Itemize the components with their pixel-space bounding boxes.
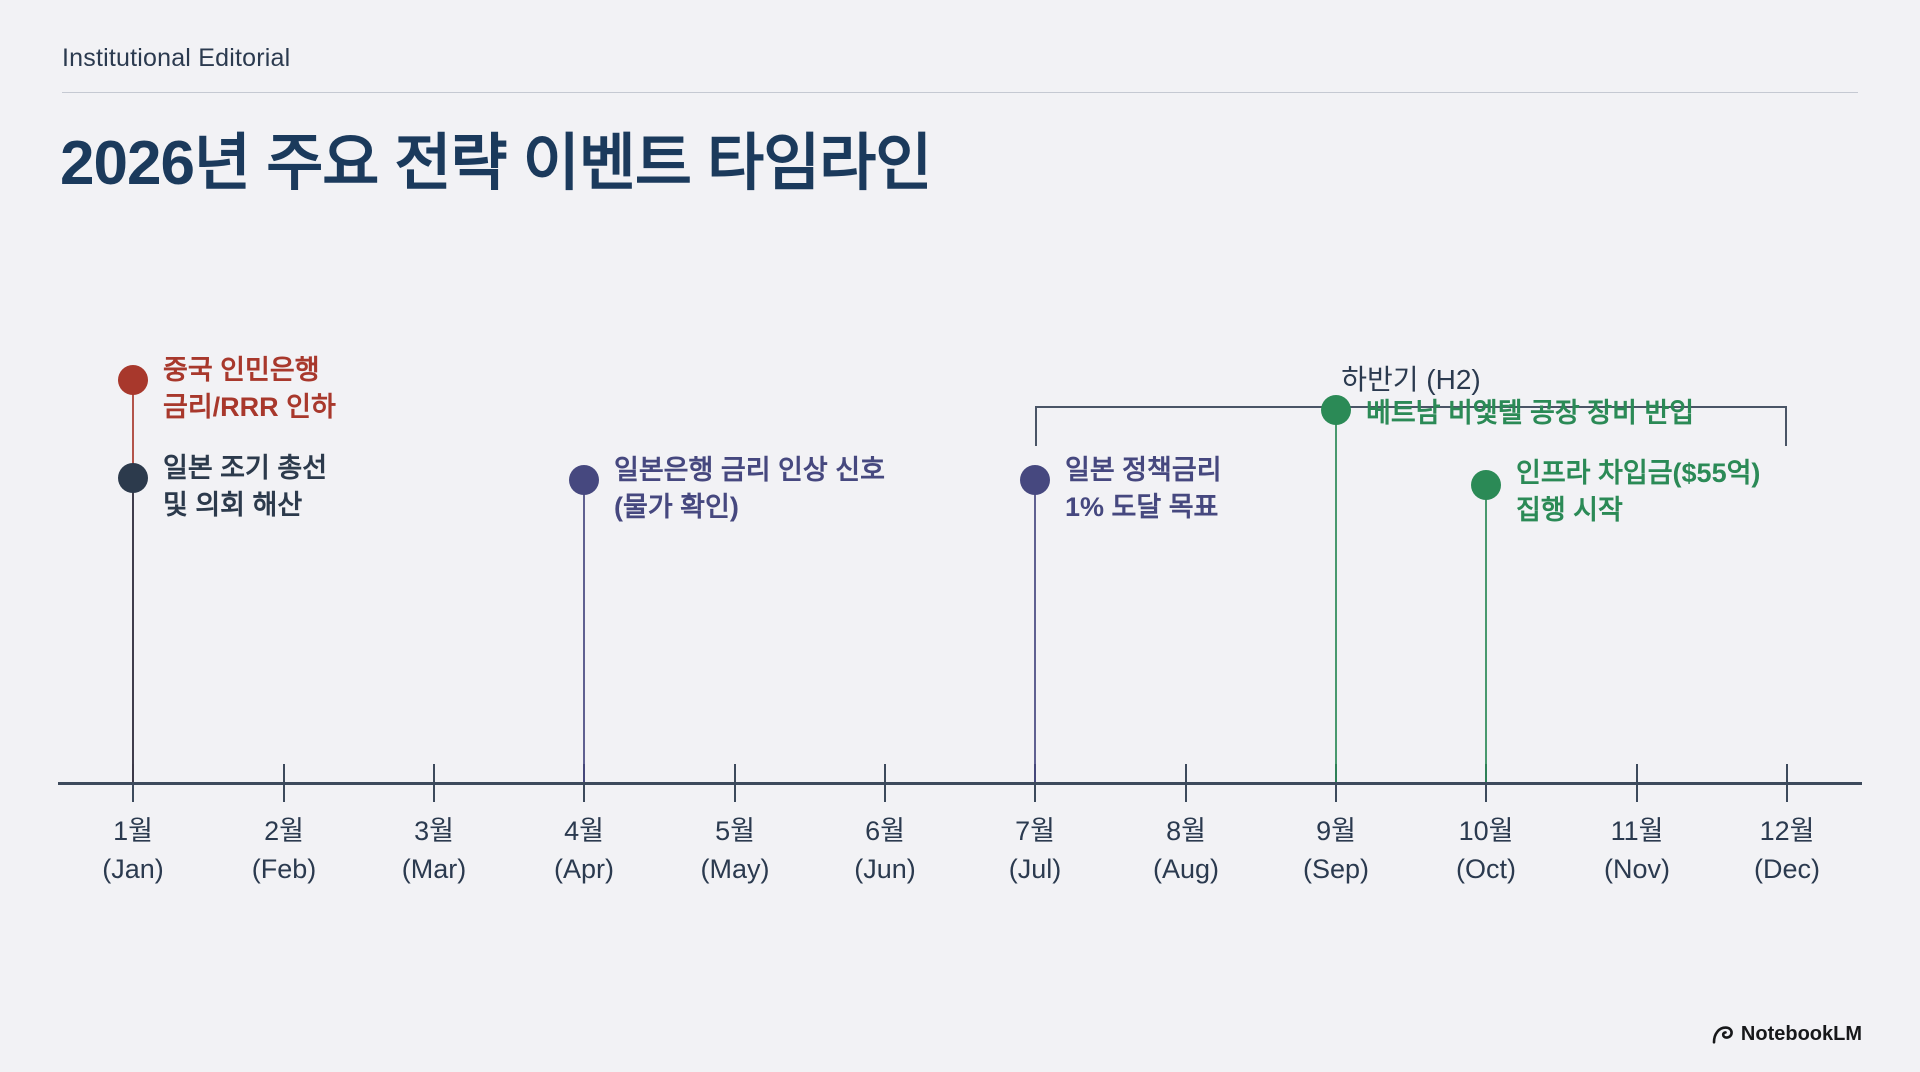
page-title: 2026년 주요 전략 이벤트 타임라인	[60, 112, 931, 202]
event-label-vietnam-viettel-equipment: 베트남 비엧텔 공장 장비 반입	[1366, 395, 1694, 432]
watermark-text: NotebookLM	[1741, 1023, 1862, 1046]
event-label-line: 인프라 차입금($55억)	[1516, 455, 1760, 492]
month-label-ko: 3월	[354, 812, 514, 850]
event-marker-pboc-rate-rrr-cut[interactable]	[118, 365, 148, 395]
event-label-pboc-rate-rrr-cut: 중국 인민은행금리/RRR 인하	[163, 352, 336, 427]
h2-bracket-arm-right	[1785, 406, 1787, 446]
axis-label-month-3: 3월(Mar)	[354, 812, 514, 889]
month-label-ko: 1월	[53, 812, 213, 850]
month-label-ko: 5월	[655, 812, 815, 850]
event-label-line: (물가 확인)	[614, 489, 885, 526]
axis-label-month-10: 10월(Oct)	[1406, 812, 1566, 889]
event-label-line: 집행 시작	[1516, 492, 1760, 529]
month-label-ko: 9월	[1256, 812, 1416, 850]
event-label-japan-policy-rate-1pct: 일본 정책금리1% 도달 목표	[1065, 452, 1222, 527]
month-label-en: (Sep)	[1256, 850, 1416, 888]
event-label-boj-rate-hike-signal: 일본은행 금리 인상 신호(물가 확인)	[614, 452, 885, 527]
timeline-axis	[58, 782, 1862, 785]
event-marker-japan-policy-rate-1pct[interactable]	[1020, 465, 1050, 495]
notebooklm-watermark: NotebookLM	[1711, 1023, 1862, 1046]
event-label-line: 금리/RRR 인하	[163, 389, 336, 426]
axis-label-month-11: 11월(Nov)	[1557, 812, 1717, 889]
event-stem-japan-policy-rate-1pct	[1034, 480, 1036, 782]
month-label-en: (Apr)	[504, 850, 664, 888]
axis-label-month-2: 2월(Feb)	[204, 812, 364, 889]
month-label-en: (Jan)	[53, 850, 213, 888]
month-label-ko: 6월	[805, 812, 965, 850]
timeline-infographic-canvas: Institutional Editorial 2026년 주요 전략 이벤트 …	[0, 0, 1920, 1072]
event-label-line: 일본 조기 총선	[163, 450, 327, 487]
axis-label-month-1: 1월(Jan)	[53, 812, 213, 889]
month-label-en: (May)	[655, 850, 815, 888]
month-label-ko: 10월	[1406, 812, 1566, 850]
event-stem-japan-snap-election	[132, 478, 134, 782]
event-stem-vietnam-viettel-equipment	[1335, 410, 1337, 782]
event-label-line: 중국 인민은행	[163, 352, 336, 389]
event-label-line: 베트남 비엧텔 공장 장비 반입	[1366, 395, 1694, 432]
month-label-ko: 8월	[1106, 812, 1266, 850]
event-label-japan-snap-election: 일본 조기 총선및 의회 해산	[163, 450, 327, 525]
month-label-en: (Aug)	[1106, 850, 1266, 888]
eyebrow-label: Institutional Editorial	[62, 44, 290, 73]
axis-label-month-8: 8월(Aug)	[1106, 812, 1266, 889]
notebooklm-icon	[1711, 1025, 1733, 1045]
event-marker-boj-rate-hike-signal[interactable]	[569, 465, 599, 495]
event-stem-boj-rate-hike-signal	[583, 480, 585, 782]
event-label-line: 1% 도달 목표	[1065, 489, 1222, 526]
event-label-line: 일본 정책금리	[1065, 452, 1222, 489]
month-label-en: (Feb)	[204, 850, 364, 888]
event-stem-infra-loan-disbursement	[1485, 485, 1487, 782]
header-divider	[62, 92, 1858, 93]
axis-label-month-4: 4월(Apr)	[504, 812, 664, 889]
event-label-line: 및 의회 해산	[163, 487, 327, 524]
month-label-ko: 7월	[955, 812, 1115, 850]
month-label-ko: 12월	[1707, 812, 1867, 850]
axis-label-month-12: 12월(Dec)	[1707, 812, 1867, 889]
event-label-infra-loan-disbursement: 인프라 차입금($55억)집행 시작	[1516, 455, 1760, 530]
h2-bracket-label: 하반기 (H2)	[1341, 358, 1481, 398]
month-label-en: (Dec)	[1707, 850, 1867, 888]
h2-bracket-arm-left	[1035, 406, 1037, 446]
event-marker-japan-snap-election[interactable]	[118, 463, 148, 493]
axis-label-month-5: 5월(May)	[655, 812, 815, 889]
month-label-ko: 11월	[1557, 812, 1717, 850]
month-label-en: (Nov)	[1557, 850, 1717, 888]
axis-label-month-7: 7월(Jul)	[955, 812, 1115, 889]
event-marker-vietnam-viettel-equipment[interactable]	[1321, 395, 1351, 425]
event-label-line: 일본은행 금리 인상 신호	[614, 452, 885, 489]
month-label-en: (Mar)	[354, 850, 514, 888]
event-marker-infra-loan-disbursement[interactable]	[1471, 470, 1501, 500]
month-label-en: (Jul)	[955, 850, 1115, 888]
month-label-en: (Jun)	[805, 850, 965, 888]
month-label-en: (Oct)	[1406, 850, 1566, 888]
axis-label-month-9: 9월(Sep)	[1256, 812, 1416, 889]
month-label-ko: 2월	[204, 812, 364, 850]
axis-label-month-6: 6월(Jun)	[805, 812, 965, 889]
month-label-ko: 4월	[504, 812, 664, 850]
